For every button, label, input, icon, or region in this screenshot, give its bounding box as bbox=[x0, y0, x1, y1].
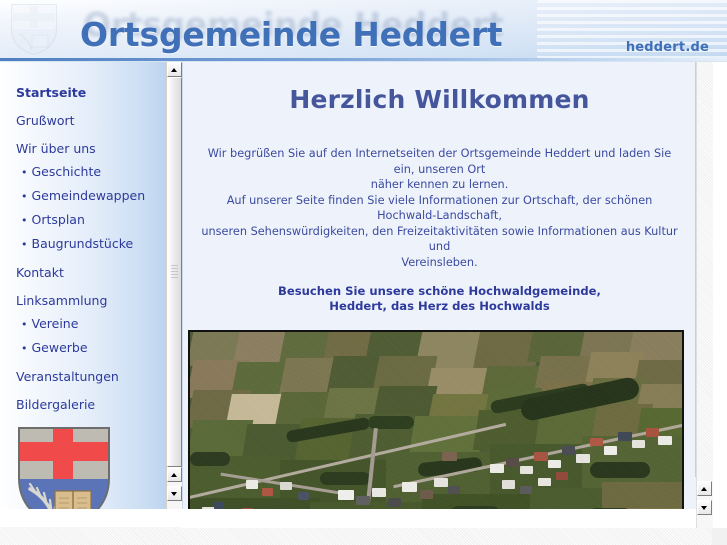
sidebar-item-label: Gemeindewappen bbox=[32, 188, 146, 203]
sidebar-navigation: Startseite Grußwort Wir über uns •Geschi… bbox=[0, 62, 166, 509]
bullet-icon: • bbox=[21, 238, 28, 251]
scroll-down-arrow-icon bbox=[171, 492, 177, 496]
sidebar-item-label: Grußwort bbox=[16, 113, 75, 128]
scroll-thumb-grip-icon bbox=[171, 265, 178, 279]
sidebar-item-label: Veranstaltungen bbox=[16, 369, 119, 384]
intro-line-5: Vereinsleben. bbox=[197, 255, 682, 271]
browser-viewport: Ortsgemeinde Heddert Ortsgemeinde Hedder… bbox=[0, 0, 727, 545]
coat-of-arms-icon bbox=[16, 426, 112, 509]
intro-line-2: näher kennen zu lernen. bbox=[197, 177, 682, 193]
aerial-photo bbox=[188, 330, 684, 509]
intro-line-1: Wir begrüßen Sie auf den Internetseiten … bbox=[197, 146, 682, 177]
window-vertical-scrollbar[interactable] bbox=[696, 62, 713, 529]
sidebar-scroll-up-button-2[interactable] bbox=[167, 467, 182, 482]
site-header: Ortsgemeinde Heddert Ortsgemeinde Hedder… bbox=[0, 0, 727, 62]
sidebar-item-gemeindewappen[interactable]: •Gemeindewappen bbox=[0, 188, 166, 204]
bullet-icon: • bbox=[21, 342, 28, 355]
window-horizontal-scrollbar[interactable] bbox=[0, 528, 712, 545]
sidebar-scroll-up-button[interactable] bbox=[167, 62, 182, 77]
intro-line-4: unseren Sehenswürdigkeiten, den Freizeit… bbox=[197, 224, 682, 255]
sidebar-item-label: Kontakt bbox=[16, 265, 64, 280]
bullet-icon: • bbox=[21, 318, 28, 331]
sidebar-item-veranstaltungen[interactable]: Veranstaltungen bbox=[0, 369, 166, 384]
main-scroll-content: Herzlich Willkommen Wir begrüßen Sie auf… bbox=[183, 62, 696, 509]
sidebar-item-vereine[interactable]: •Vereine bbox=[0, 316, 166, 332]
sidebar-scroll-thumb[interactable] bbox=[167, 77, 182, 467]
site-domain-label: heddert.de bbox=[626, 40, 709, 55]
sidebar-item-label: Startseite bbox=[16, 85, 86, 100]
sidebar-item-label: Wir über uns bbox=[16, 141, 96, 156]
sidebar-item-label: Vereine bbox=[32, 316, 79, 331]
sidebar-item-kontakt[interactable]: Kontakt bbox=[0, 265, 166, 280]
sidebar-item-linksammlung[interactable]: Linksammlung bbox=[0, 293, 166, 308]
page-title: Ortsgemeinde Heddert bbox=[80, 15, 503, 54]
scrollbar-corner bbox=[712, 528, 727, 545]
main-content-area: Herzlich Willkommen Wir begrüßen Sie auf… bbox=[182, 62, 696, 509]
sidebar-item-bildergalerie[interactable]: Bildergalerie bbox=[0, 397, 166, 412]
sidebar-item-geschichte[interactable]: •Geschichte bbox=[0, 164, 166, 180]
sidebar-scroll-content: Startseite Grußwort Wir über uns •Geschi… bbox=[0, 62, 166, 509]
sidebar-item-startseite[interactable]: Startseite bbox=[0, 85, 166, 100]
welcome-heading: Herzlich Willkommen bbox=[183, 85, 696, 114]
tagline-text: Besuchen Sie unsere schöne Hochwaldgemei… bbox=[197, 284, 682, 314]
intro-paragraph: Wir begrüßen Sie auf den Internetseiten … bbox=[197, 146, 682, 270]
coat-of-arms-watermark-icon bbox=[6, 2, 62, 56]
sidebar-item-ortsplan[interactable]: •Ortsplan bbox=[0, 212, 166, 228]
sidebar-item-label: Baugrundstücke bbox=[32, 236, 134, 251]
bullet-icon: • bbox=[21, 214, 28, 227]
scroll-up-arrow-icon bbox=[171, 68, 177, 72]
window-scroll-down-button[interactable] bbox=[697, 500, 712, 515]
page-body: Startseite Grußwort Wir über uns •Geschi… bbox=[0, 62, 727, 545]
window-scroll-up-button[interactable] bbox=[697, 481, 712, 496]
sidebar-item-label: Gewerbe bbox=[32, 340, 88, 355]
bullet-icon: • bbox=[21, 166, 28, 179]
sidebar-item-grusswort[interactable]: Grußwort bbox=[0, 113, 166, 128]
sidebar-item-baugrundstuecke[interactable]: •Baugrundstücke bbox=[0, 236, 166, 252]
tagline-line-1: Besuchen Sie unsere schöne Hochwaldgemei… bbox=[197, 284, 682, 299]
scroll-up-arrow-icon bbox=[171, 473, 177, 477]
scroll-down-arrow-icon bbox=[701, 506, 707, 510]
scroll-up-arrow-icon bbox=[701, 487, 707, 491]
sidebar-item-label: Ortsplan bbox=[32, 212, 85, 227]
sidebar-scroll-down-button[interactable] bbox=[167, 486, 182, 501]
sidebar-item-label: Geschichte bbox=[32, 164, 102, 179]
sidebar-item-label: Linksammlung bbox=[16, 293, 107, 308]
sidebar-item-wir-ueber-uns[interactable]: Wir über uns bbox=[0, 141, 166, 156]
intro-line-3: Auf unserer Seite finden Sie viele Infor… bbox=[197, 193, 682, 224]
sidebar-item-label: Bildergalerie bbox=[16, 397, 95, 412]
tagline-line-2: Heddert, das Herz des Hochwalds bbox=[197, 299, 682, 314]
sidebar-vertical-scrollbar[interactable] bbox=[166, 62, 182, 509]
sidebar-item-gewerbe[interactable]: •Gewerbe bbox=[0, 340, 166, 356]
bullet-icon: • bbox=[21, 190, 28, 203]
